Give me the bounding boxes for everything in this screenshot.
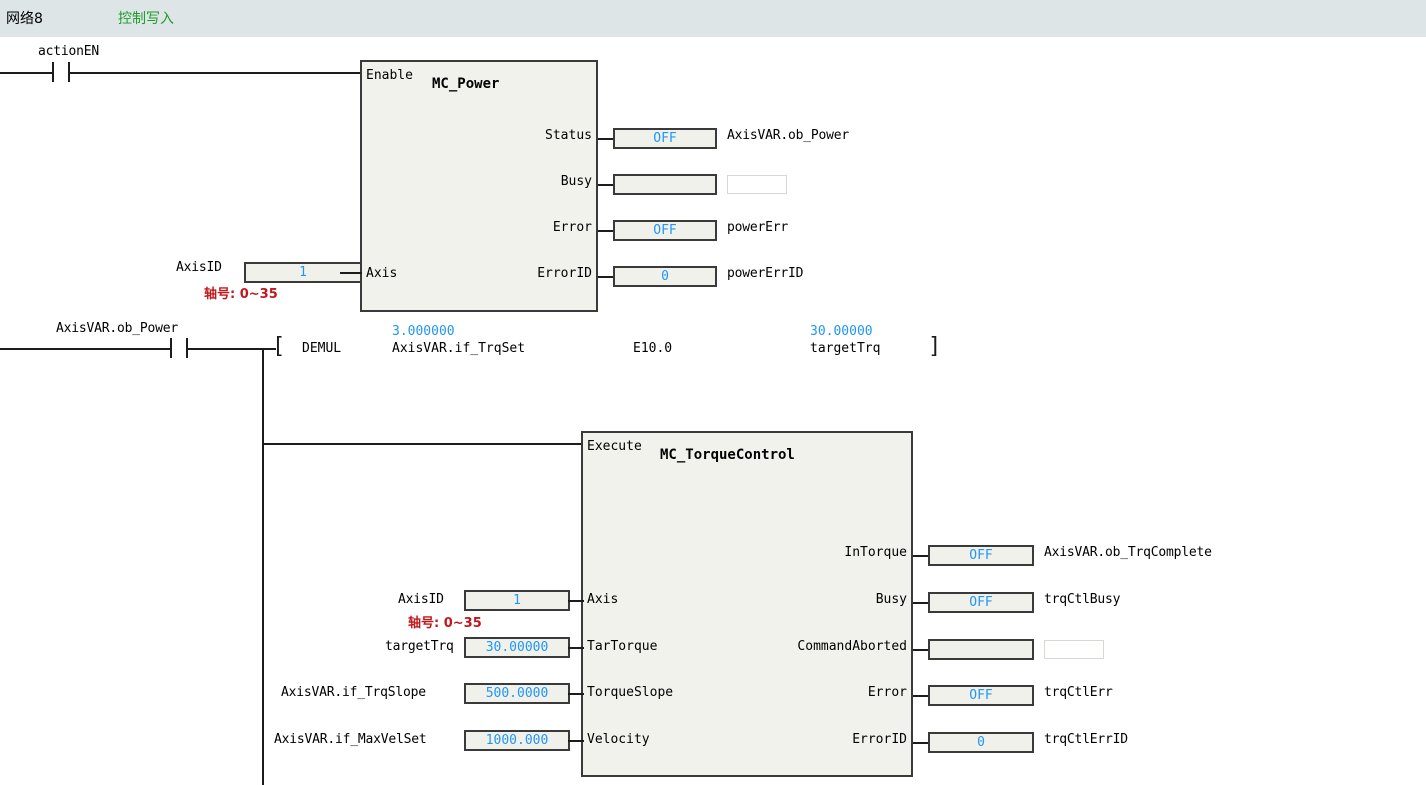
wire-torque-errorid — [913, 742, 929, 744]
pin-torque-velocity: Velocity — [587, 732, 650, 747]
output-variable-busy-power[interactable] — [727, 175, 787, 194]
pin-torque-busy: Busy — [740, 592, 907, 607]
input-value-maxvelset[interactable]: 1000.000 — [464, 730, 570, 751]
pin-mc-power-axis: Axis — [366, 266, 397, 281]
pin-torque-torqueslope: TorqueSlope — [587, 685, 673, 700]
pin-torque-error: Error — [740, 685, 907, 700]
block-mc-power-title: MC_Power — [432, 76, 499, 92]
output-value-intorque[interactable]: OFF — [928, 545, 1034, 566]
contact-left-leg — [52, 62, 54, 82]
output-value-error-power[interactable]: OFF — [613, 220, 717, 241]
output-variable-error-power: powerErr — [727, 220, 788, 235]
operand-value-targettrq: 30.00000 — [810, 324, 873, 339]
wire-mc-power-error — [598, 230, 614, 232]
contact-label-ob-power: AxisVAR.ob_Power — [56, 321, 178, 336]
pin-torque-execute: Execute — [587, 439, 642, 454]
output-variable-errorid-torque: trqCtlErrID — [1044, 732, 1128, 747]
network-header: 网络8 控制写入 — [0, 0, 1426, 37]
output-value-busy-power[interactable] — [613, 174, 717, 195]
block-mc-torquecontrol-title: MC_TorqueControl — [660, 447, 795, 463]
branch-wire-execute — [262, 443, 582, 445]
input-value-trqslope[interactable]: 500.0000 — [464, 683, 570, 704]
rung1-wire-left — [0, 72, 52, 74]
output-value-commandaborted[interactable] — [928, 639, 1034, 660]
wire-mc-power-errorid — [598, 276, 614, 278]
wire-mc-power-busy — [598, 184, 614, 186]
input-label-maxvelset: AxisVAR.if_MaxVelSet — [274, 732, 427, 747]
wire-torque-commandaborted — [913, 649, 929, 651]
network-title-label: 控制写入 — [118, 8, 174, 28]
pin-torque-axis: Axis — [587, 592, 618, 607]
input-label-targettrq: targetTrq — [385, 639, 454, 654]
contact-left-leg — [170, 338, 172, 358]
output-value-status-power[interactable]: OFF — [613, 128, 717, 149]
annotation-axisid-torque: 轴号: 0~35 — [408, 612, 482, 631]
pin-mc-power-enable: Enable — [366, 68, 413, 83]
output-variable-intorque: AxisVAR.ob_TrqComplete — [1044, 545, 1212, 560]
operand-name-targettrq[interactable]: targetTrq — [810, 341, 880, 356]
output-value-error-torque[interactable]: OFF — [928, 685, 1034, 706]
wire-trqslope — [568, 693, 584, 695]
pin-torque-intorque: InTorque — [740, 545, 907, 560]
contact-label-actionen: actionEN — [38, 44, 99, 59]
pin-mc-power-errorid: ErrorID — [500, 266, 592, 281]
instruction-close-bracket: ] — [928, 334, 941, 359]
annotation-axisid-power: 轴号: 0~35 — [204, 283, 278, 302]
input-label-axisid-power: AxisID — [176, 260, 222, 275]
pin-mc-power-busy: Busy — [500, 174, 592, 189]
network-id-label: 网络8 — [6, 8, 43, 28]
branch-vertical-main — [262, 348, 264, 785]
pin-mc-power-status: Status — [500, 128, 592, 143]
input-label-trqslope: AxisVAR.if_TrqSlope — [281, 685, 426, 700]
wire-mc-power-status — [598, 138, 614, 140]
output-value-errorid-torque[interactable]: 0 — [928, 732, 1034, 753]
output-value-errorid-power[interactable]: 0 — [613, 266, 717, 287]
operand-name-e10[interactable]: E10.0 — [633, 341, 672, 356]
pin-torque-errorid: ErrorID — [740, 732, 907, 747]
wire-torque-busy — [913, 602, 929, 604]
wire-axisid-torque — [568, 600, 584, 602]
operand-value-trqset: 3.000000 — [392, 324, 455, 339]
output-value-busy-torque[interactable]: OFF — [928, 592, 1034, 613]
output-variable-status-power: AxisVAR.ob_Power — [727, 128, 849, 143]
input-value-axisid-torque[interactable]: 1 — [464, 590, 570, 611]
pin-torque-commandaborted: CommandAborted — [740, 639, 907, 654]
pin-mc-power-error: Error — [500, 220, 592, 235]
pin-torque-tartorque: TarTorque — [587, 639, 657, 654]
instruction-mnemonic-demul: DEMUL — [302, 341, 341, 356]
output-variable-errorid-power: powerErrID — [727, 266, 803, 281]
instruction-open-bracket: [ — [272, 334, 285, 359]
rung1-wire-right — [68, 72, 360, 74]
output-variable-busy-torque: trqCtlBusy — [1044, 592, 1120, 607]
wire-torque-intorque — [913, 555, 929, 557]
wire-torque-error — [913, 695, 929, 697]
rung2-wire-left — [0, 348, 170, 350]
output-variable-error-torque: trqCtlErr — [1044, 685, 1113, 700]
wire-axisid-power — [340, 272, 362, 274]
wire-targettrq — [568, 647, 584, 649]
input-value-targettrq[interactable]: 30.00000 — [464, 637, 570, 658]
operand-name-trqset[interactable]: AxisVAR.if_TrqSet — [392, 341, 525, 356]
output-variable-commandaborted[interactable] — [1044, 640, 1104, 659]
input-label-axisid-torque: AxisID — [398, 592, 444, 607]
wire-maxvelset — [568, 740, 584, 742]
